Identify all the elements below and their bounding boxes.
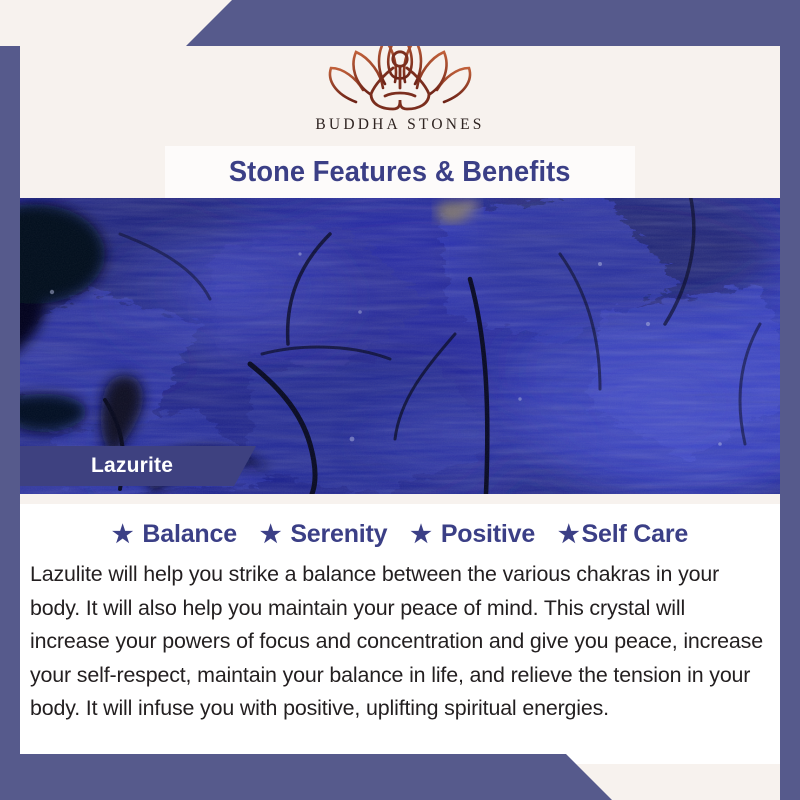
keyword-item-balance: ★Balance	[112, 520, 237, 548]
poster: BUDDHA STONES	[0, 0, 800, 800]
page-title: Stone Features & Benefits	[165, 146, 635, 198]
keyword-label: Serenity	[290, 520, 387, 548]
keyword-label: Positive	[441, 520, 535, 548]
page-title-text: Stone Features & Benefits	[229, 156, 571, 189]
brand-name: BUDDHA STONES	[270, 116, 530, 134]
keyword-label: Balance	[142, 520, 237, 548]
keyword-label: Self Care	[582, 520, 689, 548]
frame-left-band	[0, 46, 20, 800]
stone-description: Lazulite will help you strike a balance …	[30, 558, 768, 726]
keyword-item-positive: ★Positive	[410, 520, 535, 548]
keyword-item-serenity: ★Serenity	[260, 520, 388, 548]
star-icon: ★	[558, 521, 580, 548]
star-icon: ★	[260, 521, 282, 548]
content-panel: ★Balance ★Serenity ★Positive ★Self Care …	[20, 494, 780, 764]
star-icon: ★	[410, 521, 432, 548]
panel-top-strip	[20, 494, 780, 504]
star-icon: ★	[112, 521, 134, 548]
keyword-list: ★Balance ★Serenity ★Positive ★Self Care	[20, 520, 780, 549]
keyword-item-self-care: ★Self Care	[558, 520, 688, 548]
frame-right-band	[780, 0, 800, 800]
stone-name-text: Lazurite	[91, 454, 173, 478]
stone-name-badge: Lazurite	[20, 446, 256, 486]
